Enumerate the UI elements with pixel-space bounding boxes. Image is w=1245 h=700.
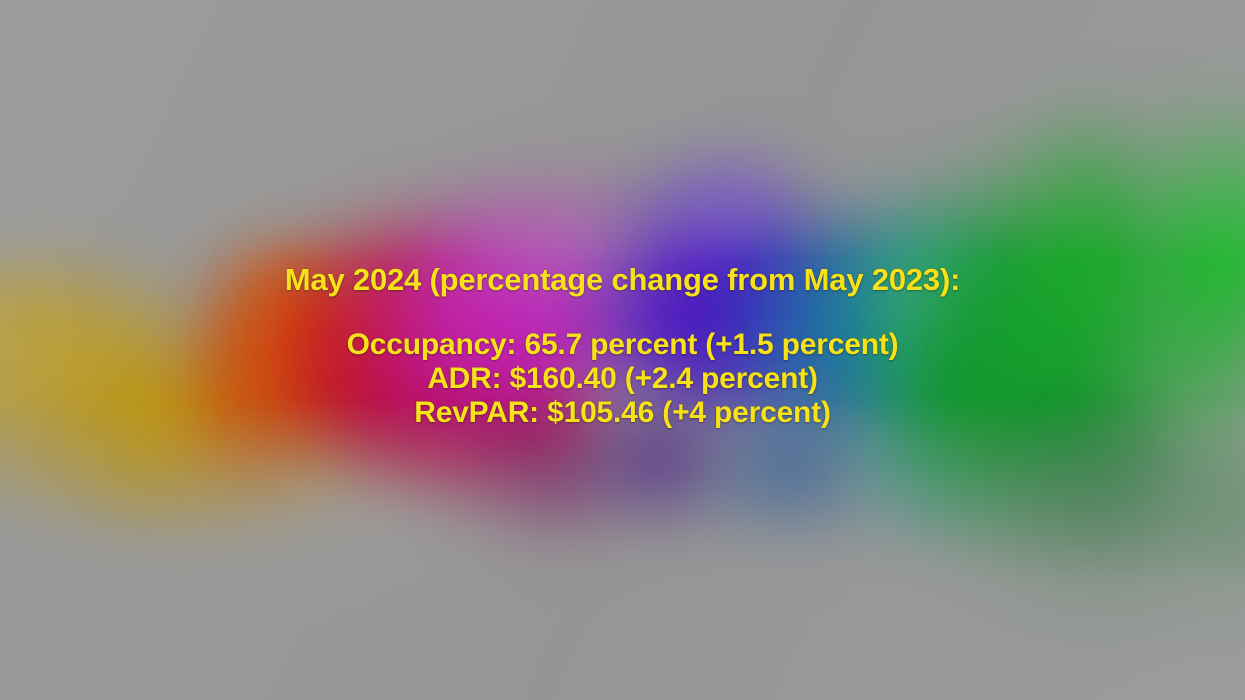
image-canvas: May 2024 (percentage change from May 202… xyxy=(0,0,1245,700)
abstract-gradient-artwork xyxy=(0,0,1245,700)
sheen-overlay xyxy=(0,0,1245,700)
